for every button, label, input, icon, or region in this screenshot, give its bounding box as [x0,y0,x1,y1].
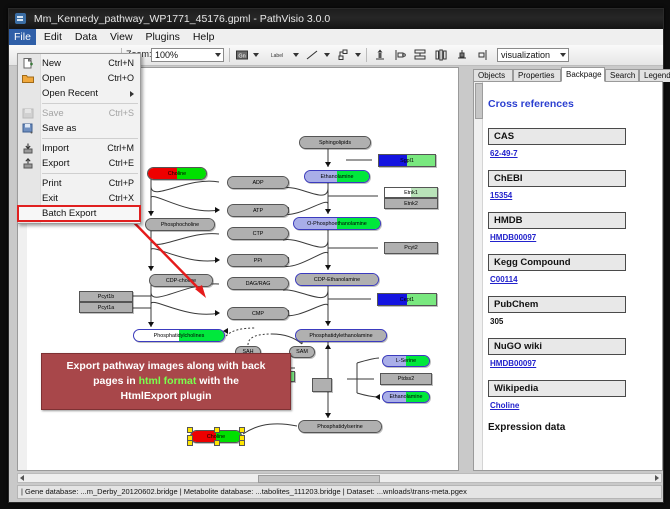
menu-item-save-as[interactable]: Save as [18,121,140,136]
align-left-icon[interactable] [392,48,406,62]
tab-backpage[interactable]: Backpage [561,67,605,82]
selection-handle[interactable] [187,427,193,433]
node-label: Sphingolipids [319,140,351,146]
node-label: ADP [252,180,263,186]
xref-value: 305 [490,317,658,326]
gene-node[interactable]: Cept1 [377,293,437,306]
menu-separator [42,103,138,104]
visualization-combo[interactable]: visualization [497,48,569,62]
align-columns-icon[interactable] [434,48,448,62]
metabolite-node[interactable]: CDP-choline [149,274,213,287]
menu-item-label: Export [42,158,69,169]
node-label: Ethanolamine [390,394,423,400]
menu-item-shortcut: Ctrl+P [109,176,134,191]
node-label: L-Serine [396,358,416,364]
arrowhead-icon [325,162,331,167]
menu-item-save: SaveCtrl+S [18,106,140,121]
node-label: Phosphatidylcholines [154,333,205,339]
zoom-value: 100% [155,50,178,60]
save-as-icon [22,123,34,134]
node-label: CDP-Ethanolamine [314,277,360,283]
menu-edit[interactable]: Edit [39,29,67,45]
node-fill [313,379,331,391]
node-label: Etnk1 [404,190,418,196]
node-label: Sgpl1 [400,158,414,164]
menu-item-shortcut: Ctrl+S [109,106,134,121]
node-label: SAH [242,349,253,355]
selection-handle[interactable] [239,427,245,433]
node-label: SAM [296,349,308,355]
xref-link[interactable]: HMDB00097 [490,359,658,368]
xref-link[interactable]: Choline [490,401,658,410]
window-titlebar: Mm_Kennedy_pathway_WP1771_45176.gpml - P… [9,9,663,29]
metabolite-node[interactable]: ATP [227,204,289,217]
arrowhead-icon [325,344,331,349]
chevron-down-icon [215,53,221,57]
cross-references-heading: Cross references [488,98,658,110]
xref-link[interactable]: C00114 [490,275,658,284]
xref-label: ChEBI [488,170,626,187]
menu-item-export[interactable]: ExportCtrl+E [18,156,140,171]
selection-handle[interactable] [214,427,220,433]
node-label: Ptdss2 [398,376,414,382]
metabolite-node[interactable]: DAG/RAG [227,277,289,290]
annotation-callout: Export pathway images along with back pa… [41,353,291,410]
menu-item-label: Exit [42,193,58,204]
menu-item-shortcut: Ctrl+X [109,191,134,206]
node-label: PPi [254,258,262,264]
metabolite-node[interactable]: PPi [227,254,289,267]
menu-separator [42,173,138,174]
label-icon[interactable]: Label [265,48,289,62]
new-document-icon [22,58,34,69]
menu-item-shortcut: Ctrl+O [108,71,134,86]
menu-item-new[interactable]: NewCtrl+N [18,56,140,71]
metabolite-node[interactable]: O-Phosphoethanolamine [293,217,381,230]
screenshot-root: Mm_Kennedy_pathway_WP1771_45176.gpml - P… [0,0,670,509]
node-label: O-Phosphoethanolamine [307,221,367,227]
zoom-combo[interactable]: 100% [151,48,224,62]
xref-link[interactable]: 62-49-7 [490,149,658,158]
node-label: CDP-choline [166,278,196,284]
status-bar: | Gene database: ...m_Derby_20120602.bri… [17,485,662,499]
menu-item-import[interactable]: ImportCtrl+M [18,141,140,156]
menu-help[interactable]: Help [188,29,220,45]
selection-handle[interactable] [239,440,245,446]
callout-line-2-post: with the [196,375,239,387]
node-label: Pcyt2 [404,245,417,251]
metabolite-node[interactable]: CDP-Ethanolamine [295,273,379,286]
arrowhead-icon [325,209,331,214]
node-label: Ethanolamine [321,174,354,180]
xref-link[interactable]: 15354 [490,191,658,200]
node-label: DAG/RAG [246,281,271,287]
visualization-value: visualization [501,50,550,60]
svg-text:Gn: Gn [238,54,245,60]
metabolite-node[interactable]: SAM [289,346,315,358]
arrowhead-icon [148,322,154,327]
gene-node[interactable]: Etnk2 [384,198,438,209]
menu-item-open-recent[interactable]: Open Recent [18,86,140,101]
scroll-left-icon[interactable] [20,475,24,481]
interaction-dropdown-icon[interactable] [355,53,361,57]
selection-handle[interactable] [187,440,193,446]
arrowhead-icon [325,321,331,326]
gene-node[interactable]: Pcyt1b [79,291,133,302]
callout-line-2-highlight: html format [139,375,197,387]
line-icon[interactable] [305,48,319,62]
side-panel-tabstrip: Objects Properties Backpage Search Legen… [473,67,663,82]
datanode-dropdown-icon[interactable] [253,53,259,57]
menu-item-print[interactable]: PrintCtrl+P [18,176,140,191]
metabolite-node[interactable]: Phosphocholine [145,218,215,231]
menu-item-label: Save as [42,123,76,134]
horizontal-scrollbar[interactable] [17,473,662,483]
cross-references-section: Cross references CAS62-49-7ChEBI15354HMD… [488,90,658,433]
arrowhead-icon [325,413,331,418]
datanode-icon[interactable]: Gn [235,48,249,62]
align-top-icon[interactable] [373,48,387,62]
gene-node[interactable] [312,378,332,392]
interaction-icon[interactable] [336,48,350,62]
menu-view[interactable]: View [105,29,138,45]
chevron-right-icon [130,91,134,97]
xref-label: NuGO wiki [488,338,626,355]
expression-data-heading: Expression data [488,422,658,433]
menu-data[interactable]: Data [70,29,102,45]
xref-label: PubChem [488,296,626,313]
menu-file[interactable]: File [9,29,36,45]
arrowhead-icon [215,207,220,213]
gene-node[interactable]: Sgpl1 [378,154,436,167]
metabolite-node[interactable]: Ethanolamine [304,170,370,183]
gene-node[interactable]: Etnk1 [384,187,438,198]
node-label: Choline [207,434,225,440]
menu-item-label: Batch Export [42,208,96,219]
label-dropdown-icon[interactable] [293,53,299,57]
menu-item-shortcut: Ctrl+E [109,156,134,171]
node-label: CTP [253,231,264,237]
menu-item-shortcut: Ctrl+M [107,141,134,156]
arrowhead-icon [375,394,380,400]
scrollbar-thumb[interactable] [258,475,380,483]
callout-line-3: HtmlExport plugin [67,389,266,404]
align-bottom-icon[interactable] [455,48,469,62]
arrowhead-icon [148,211,154,216]
metabolite-node[interactable]: Ethanolamine [382,391,430,403]
chevron-down-icon [560,53,566,57]
menu-item-label: Print [42,178,62,189]
node-label: Phosphatidylserine [317,424,363,430]
export-icon [22,158,34,169]
scroll-right-icon[interactable] [655,475,659,481]
callout-line-1: Export pathway images along with back [67,359,266,374]
cross-reference-list: CAS62-49-7ChEBI15354HMDBHMDB00097Kegg Co… [488,128,658,410]
xref-label: Wikipedia [488,380,626,397]
menu-item-label: Import [42,143,69,154]
menu-item-shortcut: Ctrl+N [108,56,134,71]
node-label: Cept1 [400,297,414,303]
node-label: ATP [253,208,263,214]
node-label: Pcyt1b [98,294,114,300]
menu-item-label: Save [42,108,64,119]
import-icon [22,143,34,154]
metabolite-node[interactable]: ADP [227,176,289,189]
menu-item-label: Open [42,73,65,84]
metabolite-node[interactable]: Choline [147,167,207,180]
side-panel: Objects Properties Backpage Search Legen… [464,67,663,471]
gene-node[interactable]: Ptdss2 [380,373,432,385]
arrowhead-icon [325,265,331,270]
selection-handle[interactable] [214,440,220,446]
align-right-icon[interactable] [476,48,490,62]
scrollbar-thumb[interactable] [475,83,483,119]
xref-label: CAS [488,128,626,145]
menu-item-open[interactable]: OpenCtrl+O [18,71,140,86]
node-label: Choline [168,171,186,177]
xref-label: HMDB [488,212,626,229]
menu-item-label: New [42,58,61,69]
node-label: Pcyt1a [98,305,114,311]
backpage-scrollbar[interactable] [474,82,483,470]
node-label: CMP [252,311,264,317]
menu-plugins[interactable]: Plugins [140,29,184,45]
metabolite-node[interactable]: CTP [227,227,289,240]
open-folder-icon [22,73,34,84]
gene-node[interactable]: Pcyt2 [384,242,438,254]
save-disk-icon [22,108,34,119]
arrowhead-icon [215,257,220,263]
application-window: Mm_Kennedy_pathway_WP1771_45176.gpml - P… [8,8,664,503]
svg-text:Label: Label [271,53,283,59]
align-stack-icon[interactable] [413,48,427,62]
backpage-panel: Cross references CAS62-49-7ChEBI15354HMD… [473,81,663,471]
metabolite-node[interactable]: Sphingolipids [299,136,371,149]
metabolite-node[interactable]: Phosphatidylethanolamine [295,329,387,342]
pathvisio-icon [15,13,26,24]
menu-item-batch-export[interactable]: Batch Export [18,206,140,221]
window-title: Mm_Kennedy_pathway_WP1771_45176.gpml - P… [34,13,330,25]
node-label: Etnk2 [404,201,418,207]
file-menu-dropdown[interactable]: NewCtrl+NOpenCtrl+OOpen RecentSaveCtrl+S… [17,53,141,224]
node-label: Phosphocholine [161,222,199,228]
arrowhead-icon [215,310,220,316]
xref-link[interactable]: HMDB00097 [490,233,658,242]
arrowhead-icon [148,266,154,271]
metabolite-node[interactable]: L-Serine [382,355,430,367]
menu-separator [42,138,138,139]
gene-node[interactable]: Pcyt1a [79,302,133,313]
xref-label: Kegg Compound [488,254,626,271]
callout-line-2-pre: pages in [93,375,139,387]
node-label: Phosphatidylethanolamine [309,333,372,339]
metabolite-node[interactable]: CMP [227,307,289,320]
line-dropdown-icon[interactable] [324,53,330,57]
metabolite-node[interactable]: Phosphatidylcholines [133,329,225,342]
menu-item-label: Open Recent [42,88,98,99]
menubar: File Edit Data View Plugins Help [9,29,663,46]
menu-item-exit[interactable]: ExitCtrl+X [18,191,140,206]
metabolite-node[interactable]: Phosphatidylserine [298,420,382,433]
